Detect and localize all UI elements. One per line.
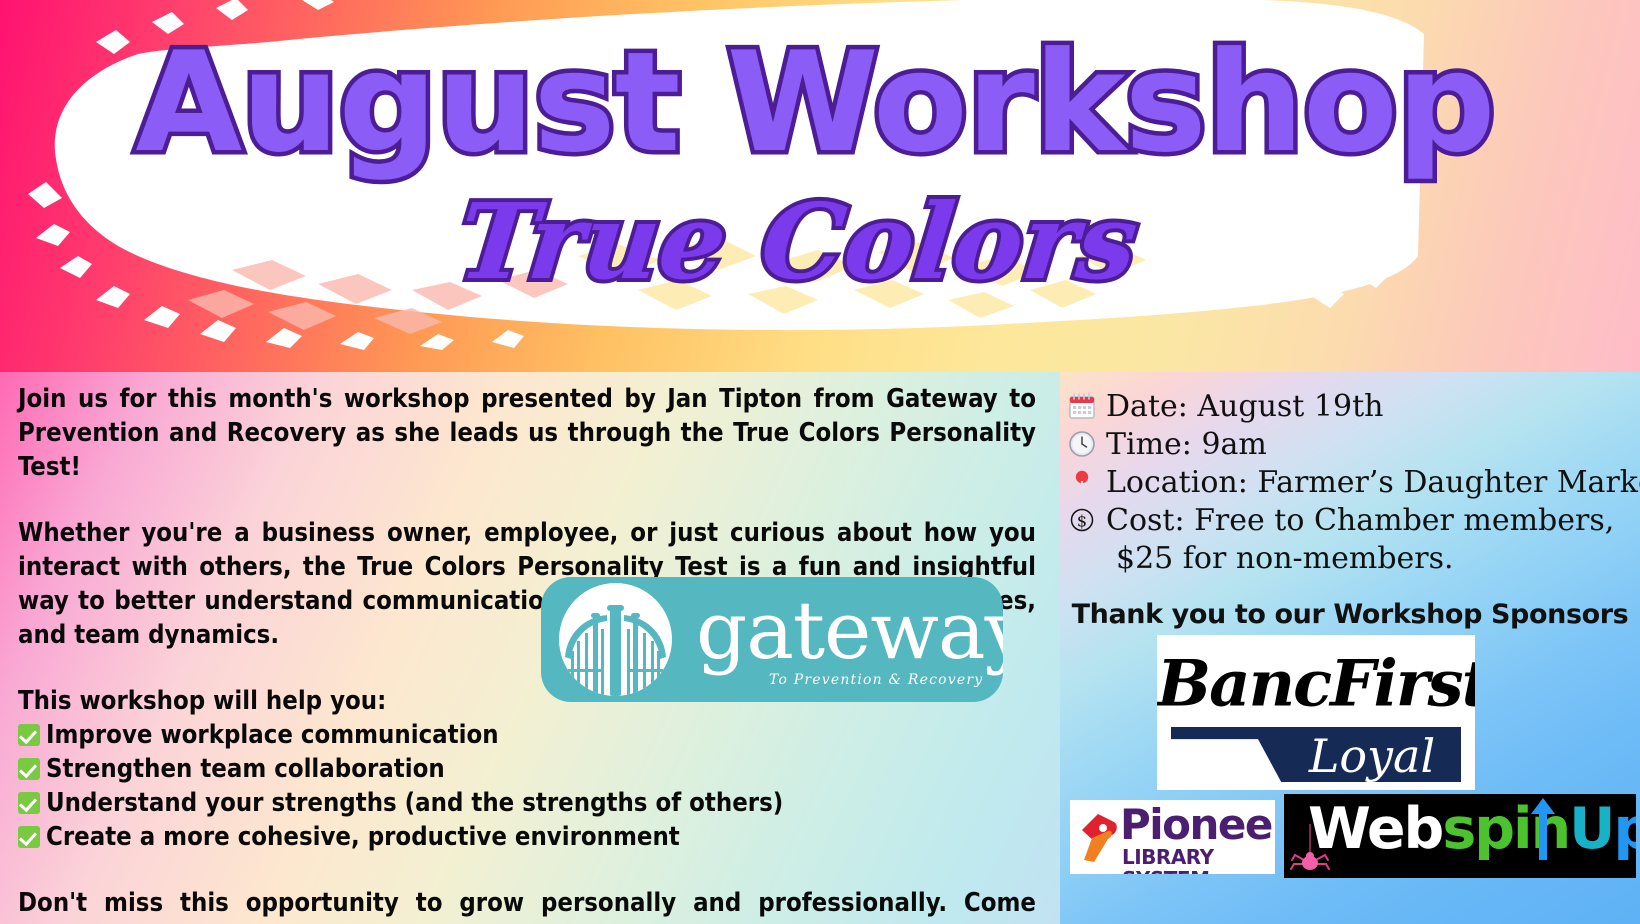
- location-pin-icon: [1068, 464, 1098, 498]
- calendar-icon: [1068, 388, 1098, 422]
- closing-paragraph: Don't miss this opportunity to grow pers…: [18, 886, 1036, 924]
- webspin-part-ps: ps: [1613, 796, 1636, 862]
- pioneer-library-logo: Pioneer LIBRARY SYSTEM: [1070, 800, 1275, 874]
- detail-text-date: Date: August 19th: [1106, 388, 1383, 426]
- page-title: August Workshop: [0, 34, 1635, 172]
- gateway-gate-icon: [559, 583, 672, 696]
- page-subtitle: True Colors: [0, 190, 1623, 294]
- title-group: August Workshop True Colors: [0, 0, 1640, 372]
- list-item: Strengthen team collaboration: [18, 752, 1036, 786]
- list-item-label: Create a more cohesive, productive envir…: [46, 820, 680, 854]
- sponsors-heading: Thank you to our Workshop Sponsors: [1060, 599, 1640, 630]
- detail-text-cost: Cost: Free to Chamber members,: [1106, 502, 1614, 540]
- list-item: Improve workplace communication: [18, 718, 1036, 752]
- list-item: Understand your strengths (and the stren…: [18, 786, 1036, 820]
- check-mark-icon: [18, 792, 40, 814]
- clock-icon: [1068, 426, 1098, 460]
- dollar-icon: $: [1068, 502, 1098, 536]
- gateway-wordmark: gateway: [696, 591, 1003, 671]
- check-mark-icon: [18, 758, 40, 780]
- bancfirst-logo: BancFirst® Loyal: [1157, 635, 1475, 790]
- details-panel: Date: August 19th Time: 9am: [1060, 372, 1640, 924]
- up-arrow-icon: [1528, 798, 1558, 865]
- bancfirst-wordmark: BancFirst®: [1157, 643, 1475, 719]
- list-item-label: Improve workplace communication: [46, 718, 499, 752]
- detail-row-location: Location: Farmer’s Daughter Market: [1068, 464, 1640, 502]
- event-details-list: Date: August 19th Time: 9am: [1068, 388, 1640, 578]
- bancfirst-text: BancFirst: [1157, 646, 1475, 721]
- detail-text-location: Location: Farmer’s Daughter Market: [1106, 464, 1640, 502]
- detail-text-cost-continuation: $25 for non-members.: [1068, 540, 1640, 578]
- pioneer-wordmark: Pioneer: [1120, 802, 1275, 848]
- webspin-part-u: U: [1569, 796, 1613, 862]
- detail-row-cost: $ Cost: Free to Chamber members,: [1068, 502, 1640, 540]
- detail-row-date: Date: August 19th: [1068, 388, 1640, 426]
- benefits-list: Improve workplace communication Strength…: [18, 718, 1036, 854]
- gateway-logo: gateway To Prevention & Recovery: [541, 577, 1003, 702]
- check-mark-icon: [18, 826, 40, 848]
- list-item-label: Strengthen team collaboration: [46, 752, 445, 786]
- webspin-wordmark: WebspinUps: [1308, 796, 1636, 862]
- header-banner: August Workshop True Colors: [0, 0, 1640, 372]
- check-mark-icon: [18, 724, 40, 746]
- pioneer-mark-icon: [1078, 810, 1122, 866]
- bancfirst-tagline: Loyal: [1277, 731, 1467, 781]
- list-item-label: Understand your strengths (and the stren…: [46, 786, 783, 820]
- webspin-part-web: Web: [1308, 796, 1442, 862]
- list-item: Create a more cohesive, productive envir…: [18, 820, 1036, 854]
- svg-text:$: $: [1077, 512, 1087, 531]
- pioneer-subtitle: LIBRARY SYSTEM: [1122, 846, 1275, 874]
- flyer-poster: August Workshop True Colors Join us for …: [0, 0, 1640, 924]
- intro-paragraph: Join us for this month's workshop presen…: [18, 382, 1036, 484]
- detail-row-time: Time: 9am: [1068, 426, 1640, 464]
- gateway-tagline: To Prevention & Recovery: [769, 672, 983, 688]
- detail-text-time: Time: 9am: [1106, 426, 1267, 464]
- webspinups-logo: WebspinUps: [1284, 794, 1636, 878]
